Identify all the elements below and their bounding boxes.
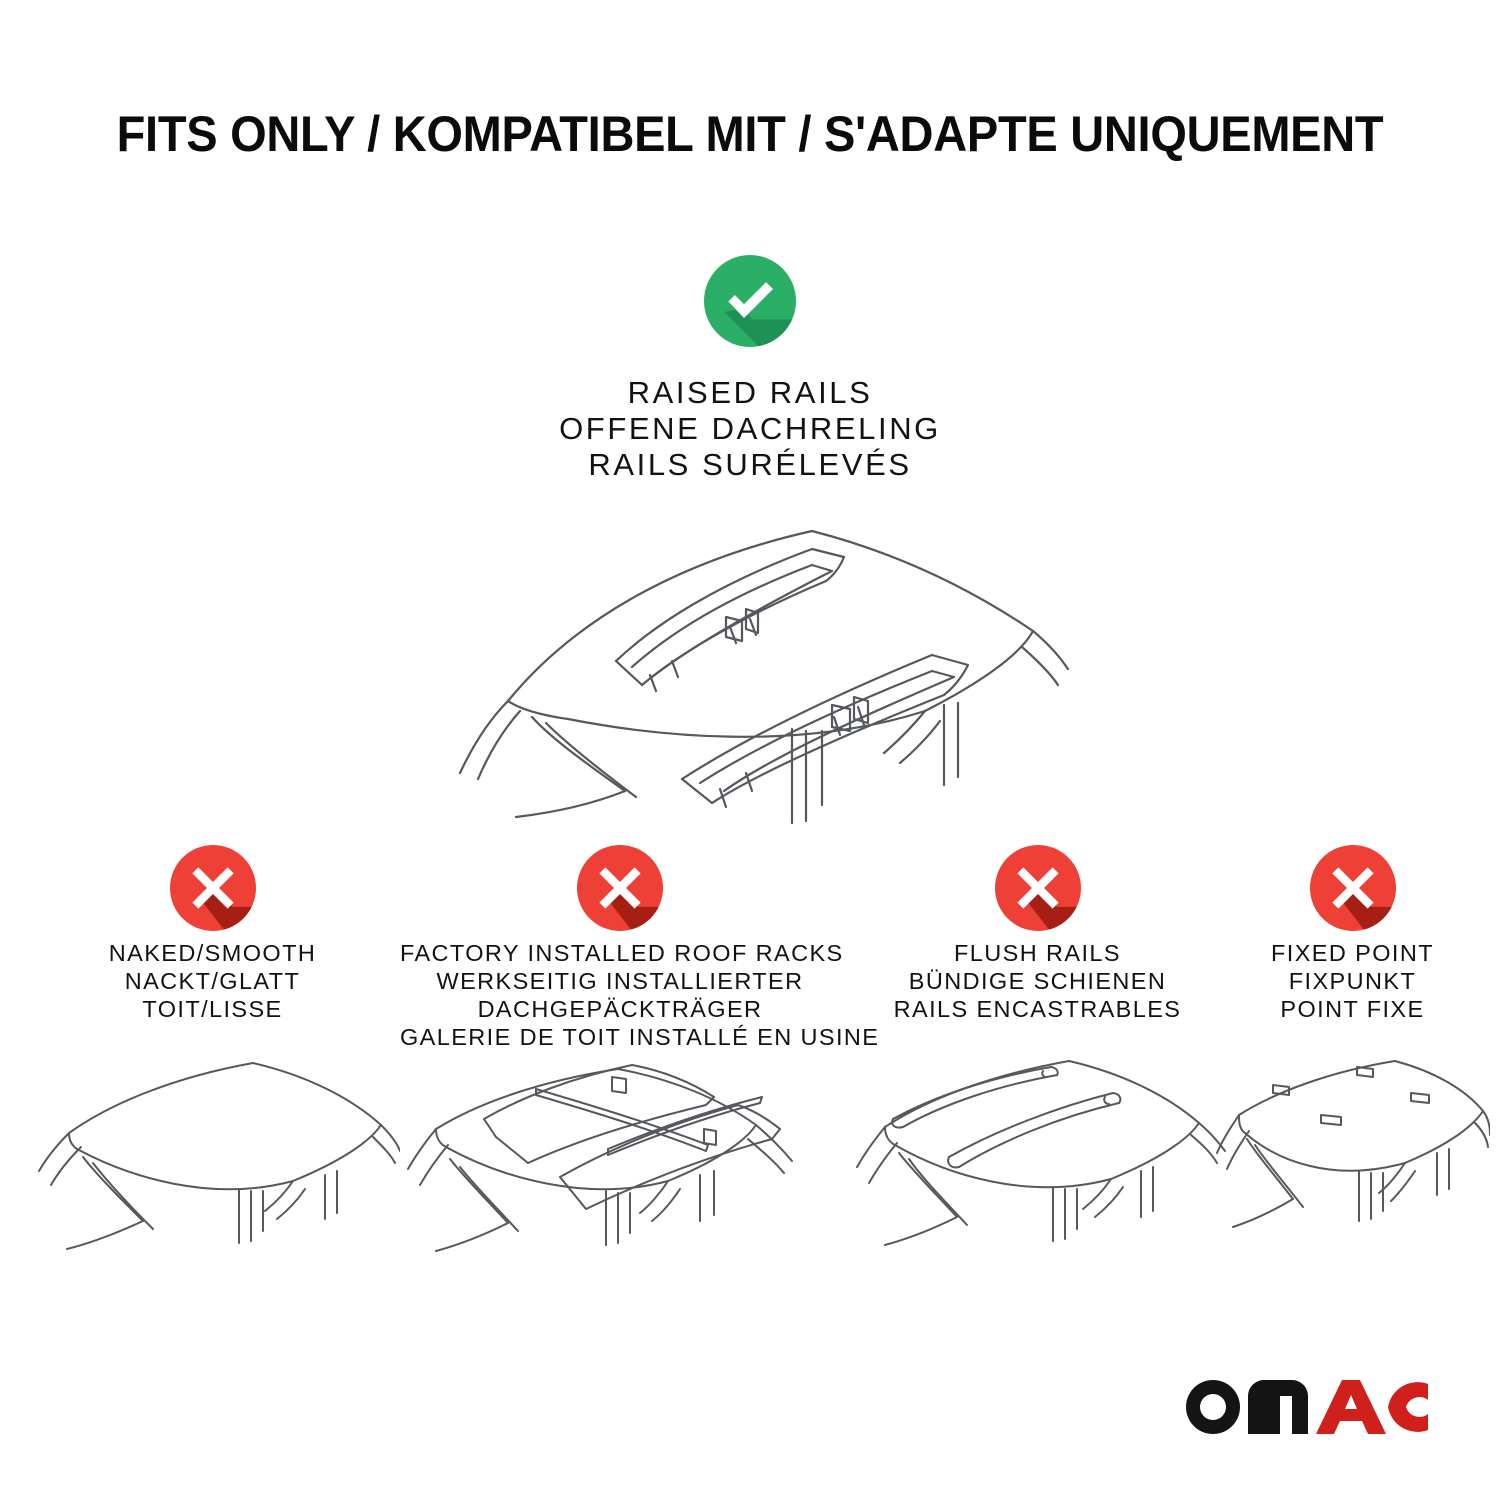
fitment-column-flush-rails: FLUSH RAILS BÜNDIGE SCHIENEN RAILS ENCAS… bbox=[845, 845, 1230, 1268]
compatible-label-de: OFFENE DACHRELING bbox=[0, 411, 1500, 447]
car-roof-fixed-points-illustration bbox=[1215, 1053, 1490, 1268]
fitment-infographic: FITS ONLY / KOMPATIBEL MIT / S'ADAPTE UN… bbox=[0, 0, 1500, 1500]
label-line: TOIT/LISSE bbox=[25, 995, 400, 1023]
compatible-label-fr: RAILS SURÉLEVÉS bbox=[0, 447, 1500, 483]
logo-letter-c bbox=[1388, 1382, 1428, 1432]
label-line: FACTORY INSTALLED ROOF RACKS bbox=[400, 939, 840, 967]
check-circle-icon bbox=[704, 255, 796, 347]
label-line: NACKT/GLATT bbox=[25, 967, 400, 995]
x-circle-icon bbox=[995, 845, 1081, 931]
omac-logo bbox=[1182, 1376, 1432, 1438]
logo-letter-o bbox=[1186, 1380, 1240, 1434]
not-compatible-section: NAKED/SMOOTH NACKT/GLATT TOIT/LISSE bbox=[0, 845, 1500, 1315]
logo-letter-a bbox=[1316, 1380, 1386, 1434]
fitment-labels-flush-rails: FLUSH RAILS BÜNDIGE SCHIENEN RAILS ENCAS… bbox=[845, 939, 1230, 1023]
fitment-labels-fixed-point: FIXED POINT FIXPUNKT POINT FIXE bbox=[1215, 939, 1490, 1023]
x-circle-icon bbox=[577, 845, 663, 931]
label-line: FIXED POINT bbox=[1215, 939, 1490, 967]
compatible-labels: RAISED RAILS OFFENE DACHRELING RAILS SUR… bbox=[0, 375, 1500, 483]
label-line: FIXPUNKT bbox=[1215, 967, 1490, 995]
logo-letter-m bbox=[1248, 1380, 1308, 1434]
page-title: FITS ONLY / KOMPATIBEL MIT / S'ADAPTE UN… bbox=[45, 104, 1455, 164]
fitment-labels-factory-roof-racks: FACTORY INSTALLED ROOF RACKS WERKSEITIG … bbox=[400, 939, 840, 1051]
label-line: GALERIE DE TOIT INSTALLÉ EN USINE bbox=[400, 1023, 840, 1051]
car-roof-naked-smooth-illustration bbox=[25, 1053, 400, 1268]
compatible-label-en: RAISED RAILS bbox=[0, 375, 1500, 411]
x-circle-icon bbox=[170, 845, 256, 931]
fitment-column-fixed-point: FIXED POINT FIXPUNKT POINT FIXE bbox=[1215, 845, 1490, 1268]
fitment-column-factory-roof-racks: FACTORY INSTALLED ROOF RACKS WERKSEITIG … bbox=[400, 845, 840, 1278]
compatible-section: RAISED RAILS OFFENE DACHRELING RAILS SUR… bbox=[0, 255, 1500, 483]
x-circle-icon bbox=[1310, 845, 1396, 931]
label-line: BÜNDIGE SCHIENEN bbox=[845, 967, 1230, 995]
car-roof-raised-rails-illustration bbox=[420, 505, 1110, 825]
fitment-column-naked-smooth: NAKED/SMOOTH NACKT/GLATT TOIT/LISSE bbox=[25, 845, 400, 1268]
label-line: DACHGEPÄCKTRÄGER bbox=[400, 995, 840, 1023]
fitment-labels-naked-smooth: NAKED/SMOOTH NACKT/GLATT TOIT/LISSE bbox=[25, 939, 400, 1023]
car-roof-factory-crossbars-illustration bbox=[400, 1063, 840, 1278]
label-line: NAKED/SMOOTH bbox=[25, 939, 400, 967]
car-roof-flush-rails-illustration bbox=[845, 1053, 1230, 1268]
label-line: RAILS ENCASTRABLES bbox=[845, 995, 1230, 1023]
label-line: WERKSEITIG INSTALLIERTER bbox=[400, 967, 840, 995]
label-line: POINT FIXE bbox=[1215, 995, 1490, 1023]
label-line: FLUSH RAILS bbox=[845, 939, 1230, 967]
